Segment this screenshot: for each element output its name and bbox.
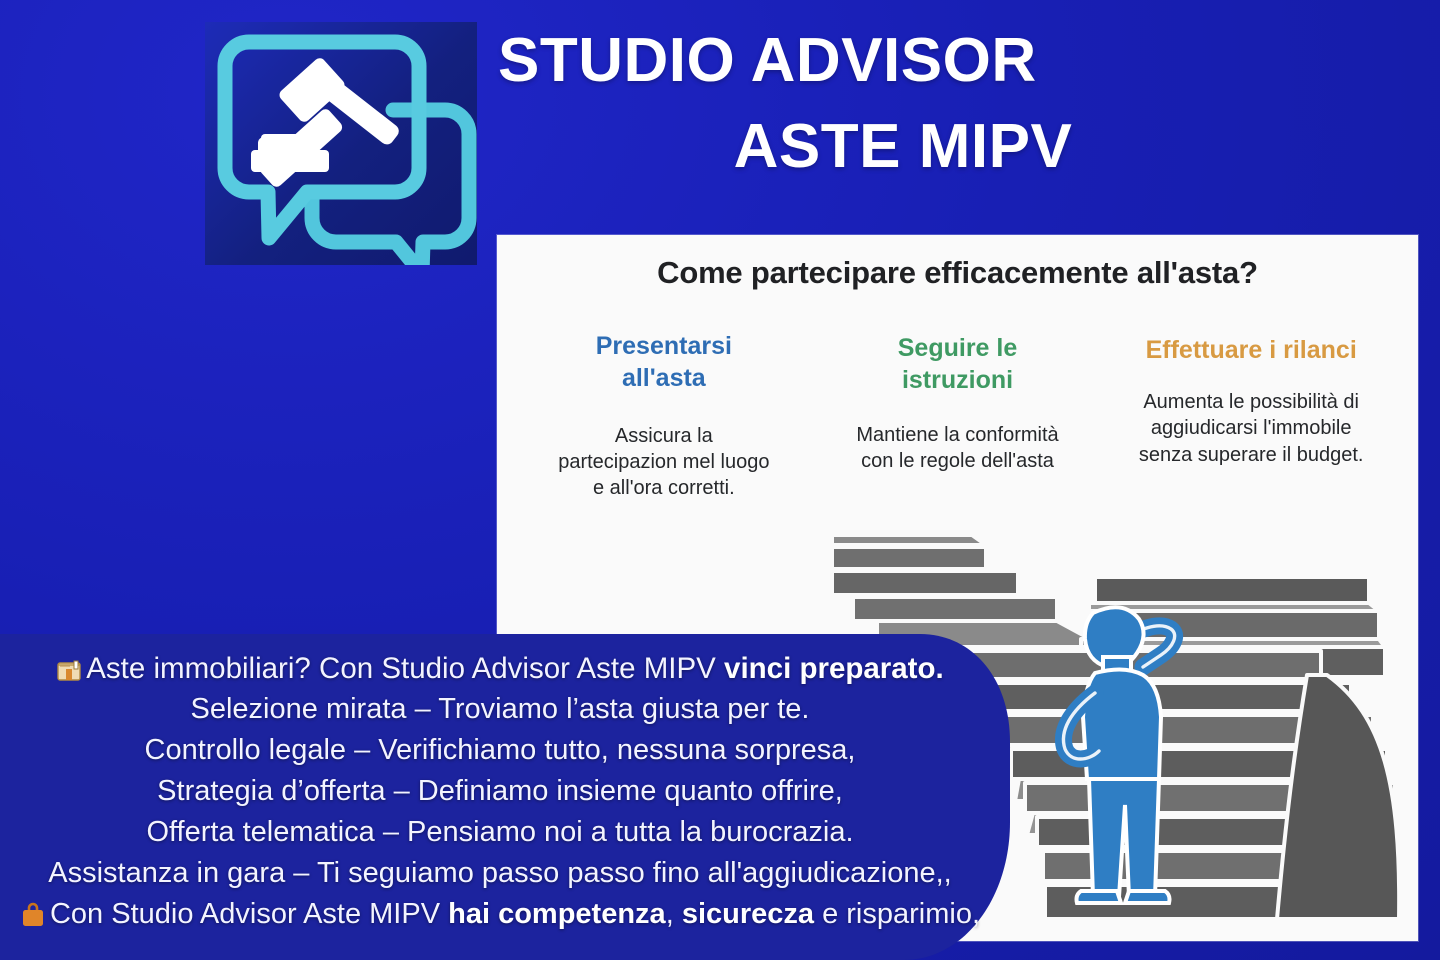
bottom-line-3: Controllo legale – Verifichiamo tutto, n… — [0, 730, 1000, 771]
benefit-columns: Presentarsi all'asta Assicura la parteci… — [517, 331, 1398, 502]
bottom-line-7-text-e: e risparimio, — [814, 898, 980, 930]
slide-canvas: STUDIO ADVISOR ASTE MIPV Come partecipar… — [0, 0, 1440, 960]
bottom-line-2: Selezione mirata – Troviamo l’asta giust… — [0, 689, 1000, 730]
bottom-line-1-text-a: Aste immobiliari? Con Studio Advisor Ast… — [86, 652, 724, 685]
bottom-line-7: Con Studio Advisor Aste MIPV hai compete… — [0, 894, 1000, 935]
bottom-line-7-text-a: Con Studio Advisor Aste MIPV — [50, 898, 448, 930]
title-line-1: STUDIO ADVISOR — [498, 26, 1037, 95]
bottom-line-7-text-d: sicurecza — [682, 898, 814, 930]
column-presentarsi: Presentarsi all'asta Assicura la parteci… — [517, 331, 811, 502]
bottom-line-7-sep: , — [666, 898, 682, 930]
bottom-line-1-text-b: vinci preparato. — [724, 652, 944, 685]
bottom-text-block: Aste immobiliari? Con Studio Advisor Ast… — [0, 648, 1000, 935]
column-title: Effettuare i rilanci — [1114, 331, 1388, 367]
bottom-line-4: Strategia d’offerta – Definiamo insieme … — [0, 771, 1000, 812]
bottom-line-7-text-b: hai competenza — [448, 898, 666, 930]
column-rilanci: Effettuare i rilanci Aumenta le possibil… — [1104, 331, 1398, 468]
house-icon — [56, 653, 82, 679]
column-body: Aumenta le possibilità di aggiudicarsi l… — [1114, 389, 1388, 468]
column-seguire: Seguire le istruzioni Mantiene la confor… — [811, 331, 1105, 474]
bottom-line-5: Offerta telematica – Pensiamo noi a tutt… — [0, 812, 1000, 853]
bottom-line-1: Aste immobiliari? Con Studio Advisor Ast… — [0, 648, 1000, 689]
title-line-2: ASTE MIPV — [438, 104, 1368, 190]
column-body: Mantiene la conformità con le regole del… — [821, 419, 1095, 475]
column-body: Assicura la partecipazion mel luogo e al… — [527, 417, 801, 502]
card-heading: Come partecipare efficacemente all'asta? — [497, 255, 1418, 291]
column-title: Seguire le istruzioni — [821, 331, 1095, 397]
gavel-speech-bubble-icon — [205, 22, 477, 265]
bottom-line-6: Assistanza in gara – Ti seguiamo passo p… — [0, 853, 1000, 894]
brand-logo — [205, 22, 477, 265]
page-title: STUDIO ADVISOR ASTE MIPV — [498, 18, 1398, 189]
briefcase-icon — [20, 899, 46, 925]
column-title: Presentarsi all'asta — [527, 331, 801, 395]
